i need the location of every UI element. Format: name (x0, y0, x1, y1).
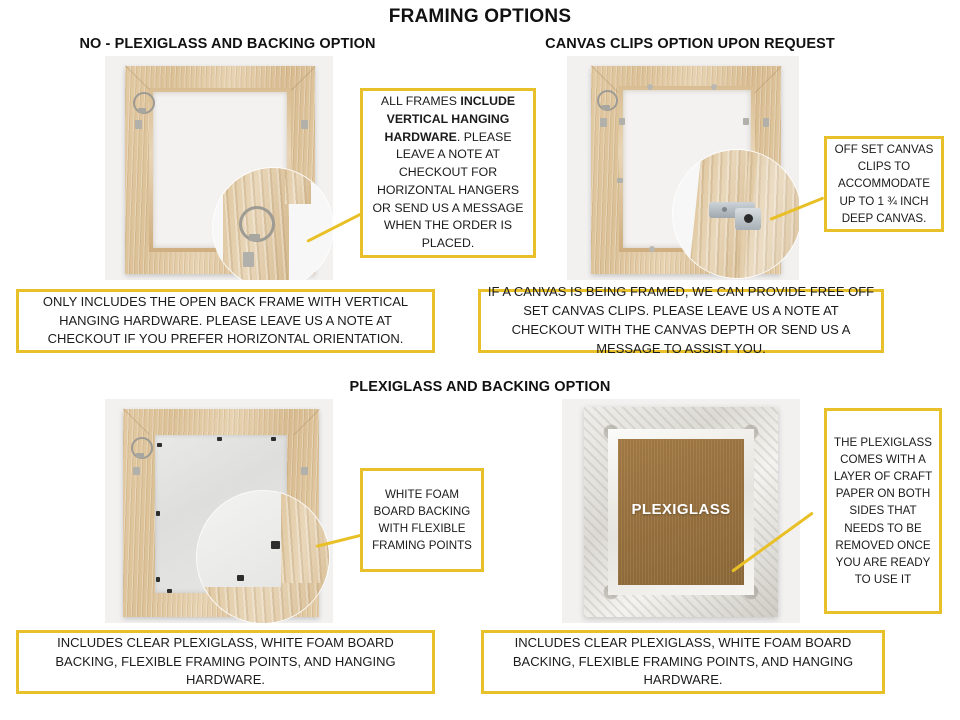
photo-ornate-frame-craft-paper: PLEXIGLASS (562, 399, 800, 623)
photo-foam-board-backing-frame (105, 399, 333, 623)
banner-3-text: INCLUDES CLEAR PLEXIGLASS, WHITE FOAM BO… (19, 630, 432, 695)
callout-craft-paper: THE PLEXIGLASS COMES WITH A LAYER OF CRA… (824, 408, 942, 614)
banner-1-text: ONLY INCLUDES THE OPEN BACK FRAME WITH V… (19, 289, 432, 354)
banner-no-plexiglass: ONLY INCLUDES THE OPEN BACK FRAME WITH V… (16, 289, 435, 353)
callout-1-text-a: ALL FRAMES (381, 94, 461, 108)
plexiglass-photo-label: PLEXIGLASS (562, 501, 800, 518)
section-heading-plexiglass-backing: PLEXIGLASS AND BACKING OPTION (280, 379, 680, 395)
section-heading-canvas-clips: CANVAS CLIPS OPTION UPON REQUEST (500, 36, 880, 52)
callout-hanging-hardware: ALL FRAMES INCLUDE VERTICAL HANGING HARD… (360, 88, 536, 258)
banner-canvas-clips: IF A CANVAS IS BEING FRAMED, WE CAN PROV… (478, 289, 884, 353)
photo-canvas-clips-frame (567, 56, 799, 280)
callout-4-text: THE PLEXIGLASS COMES WITH A LAYER OF CRA… (827, 430, 939, 592)
banner-craft-paper: INCLUDES CLEAR PLEXIGLASS, WHITE FOAM BO… (481, 630, 885, 694)
callout-3-text: WHITE FOAM BOARD BACKING WITH FLEXIBLE F… (363, 482, 481, 559)
callout-foam-board: WHITE FOAM BOARD BACKING WITH FLEXIBLE F… (360, 468, 484, 572)
section-heading-no-plexiglass: NO - PLEXIGLASS AND BACKING OPTION (40, 36, 415, 52)
magnifier-inset-hanging-hardware (213, 168, 333, 280)
callout-2-text: OFF SET CANVAS CLIPS TO ACCOMMODATE UP T… (827, 137, 941, 231)
magnifier-inset-framing-point (197, 491, 329, 623)
banner-plexiglass-backing: INCLUDES CLEAR PLEXIGLASS, WHITE FOAM BO… (16, 630, 435, 694)
photo-open-back-frame (105, 56, 333, 280)
callout-1-text-b: . PLEASE LEAVE A NOTE AT CHECKOUT FOR HO… (372, 130, 523, 250)
banner-2-text: IF A CANVAS IS BEING FRAMED, WE CAN PROV… (481, 279, 881, 363)
page-title: FRAMING OPTIONS (0, 6, 960, 28)
banner-4-text: INCLUDES CLEAR PLEXIGLASS, WHITE FOAM BO… (484, 630, 882, 695)
callout-canvas-clips: OFF SET CANVAS CLIPS TO ACCOMMODATE UP T… (824, 136, 944, 232)
